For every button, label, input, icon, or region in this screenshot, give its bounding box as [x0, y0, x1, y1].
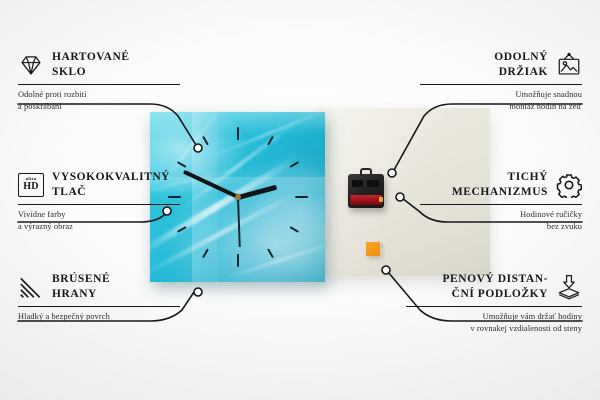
feature-header: TICHÝMECHANIZMUS: [420, 170, 582, 200]
feature-title: PENOVÝ DISTAN-ČNÍ PODLOŽKY: [406, 272, 548, 302]
clock-movement-photo: [348, 174, 384, 208]
feature-description: Hodinové ručičkybez zvuku: [420, 209, 582, 234]
clock-tick: [295, 196, 308, 198]
hd-label: HD: [23, 182, 38, 193]
feature-header: BRÚSENÉHRANY: [18, 272, 180, 302]
feature-header: PENOVÝ DISTAN-ČNÍ PODLOŽKY: [406, 272, 582, 302]
feature-title: TICHÝMECHANIZMUS: [420, 170, 548, 200]
feature-foam-spacers[interactable]: PENOVÝ DISTAN-ČNÍ PODLOŽKY Umožňuje vám …: [406, 272, 582, 335]
feature-divider: [420, 84, 582, 85]
movement-slot: [352, 180, 363, 187]
feature-description: Umožňuje snadnoumontáž hodin na zeď: [420, 89, 582, 114]
feature-high-quality-print[interactable]: ultra HD VYSOKOKVALITNÝTLAČ Vivídne farb…: [18, 170, 180, 233]
feature-divider: [18, 306, 180, 307]
connector-marker: [194, 288, 202, 296]
feature-title: HARTOVANÉSKLO: [52, 50, 180, 80]
battery: [350, 195, 382, 205]
hatched-edge-icon: [18, 274, 44, 300]
feature-description: Hladký a bezpečný povrch: [18, 311, 180, 323]
feature-header: ODOLNÝDRŽIAK: [420, 50, 582, 80]
feature-title: ODOLNÝDRŽIAK: [420, 50, 548, 80]
stacked-layers-arrow-icon: [556, 274, 582, 300]
feature-divider: [18, 84, 180, 85]
diamond-icon: [18, 52, 44, 78]
foam-pad-photo: [366, 242, 380, 256]
movement-hanger: [360, 168, 372, 176]
clock-tick: [237, 127, 239, 140]
gear-icon: [556, 172, 582, 198]
feature-description: Umožňuje vám držať hodinyv rovnakej vzdi…: [406, 311, 582, 336]
wall-picture-hanger-icon: [556, 52, 582, 78]
clock-center-cap: [235, 194, 241, 200]
clock-tick: [237, 254, 239, 267]
feature-description: Odolné proti rozbitía poškrábání: [18, 89, 180, 114]
ultra-hd-badge-icon: ultra HD: [18, 173, 44, 197]
movement-slot: [367, 180, 379, 187]
feature-ground-edges[interactable]: BRÚSENÉHRANY Hladký a bezpečný povrch: [18, 272, 180, 323]
feature-divider: [406, 306, 582, 307]
infographic-stage: HARTOVANÉSKLO Odolné proti rozbitía pošk…: [0, 0, 600, 400]
feature-divider: [420, 204, 582, 205]
feature-header: HARTOVANÉSKLO: [18, 50, 180, 80]
feature-divider: [18, 204, 180, 205]
feature-title: BRÚSENÉHRANY: [52, 272, 180, 302]
feature-title: VYSOKOKVALITNÝTLAČ: [52, 170, 180, 200]
feature-header: ultra HD VYSOKOKVALITNÝTLAČ: [18, 170, 180, 200]
feature-silent-mechanism[interactable]: TICHÝMECHANIZMUS Hodinové ručičkybez zvu…: [420, 170, 582, 233]
feature-tempered-glass[interactable]: HARTOVANÉSKLO Odolné proti rozbitía pošk…: [18, 50, 180, 113]
feature-durable-hanger[interactable]: ODOLNÝDRŽIAK Umožňuje snadnoumontáž hodi…: [420, 50, 582, 113]
feature-description: Vivídne farbya výrazný obraz: [18, 209, 180, 234]
